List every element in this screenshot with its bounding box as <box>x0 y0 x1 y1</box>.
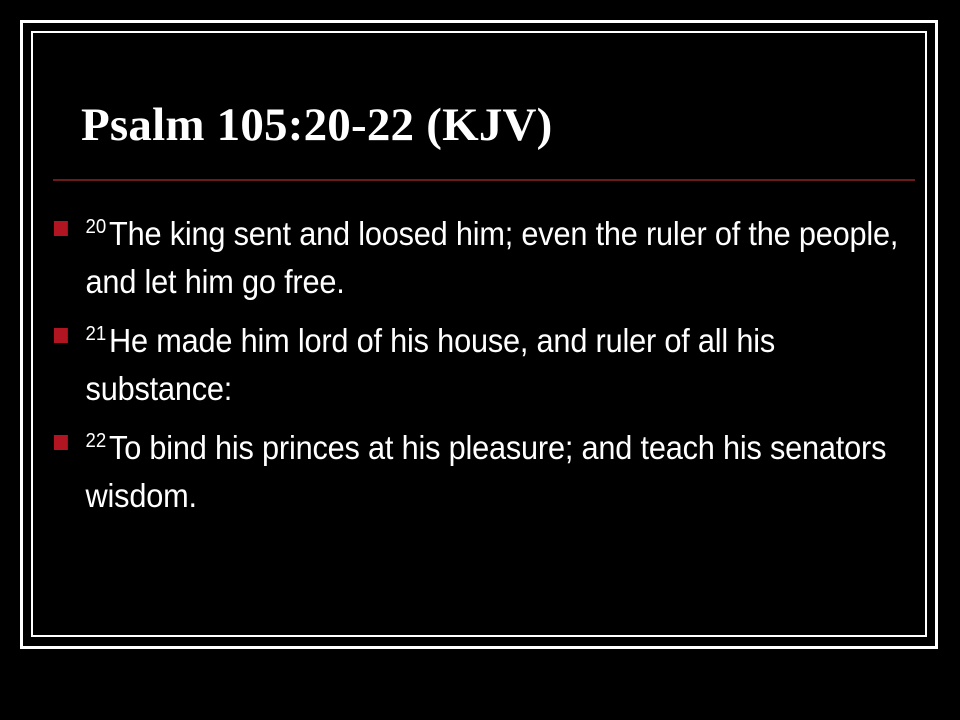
verse-number: 21 <box>86 323 109 345</box>
verse-text: To bind his princes at his pleasure; and… <box>86 429 887 514</box>
slide-title: Psalm 105:20-22 (KJV) <box>53 96 915 154</box>
scripture-bullet-list: 20The king sent and loosed him; even the… <box>53 203 925 524</box>
verse-number: 20 <box>86 216 109 238</box>
title-block: Psalm 105:20-22 (KJV) <box>53 96 915 154</box>
square-bullet-icon <box>54 328 68 343</box>
bullet-item-verse-21: 21He made him lord of his house, and rul… <box>53 310 925 413</box>
verse-number: 22 <box>86 430 109 452</box>
title-divider-rule <box>53 179 915 181</box>
square-bullet-icon <box>54 435 68 450</box>
bullet-item-verse-20: 20The king sent and loosed him; even the… <box>53 203 925 306</box>
bullet-item-verse-22: 22To bind his princes at his pleasure; a… <box>53 417 925 520</box>
presentation-slide: Psalm 105:20-22 (KJV) 20The king sent an… <box>0 0 960 720</box>
square-bullet-icon <box>54 221 68 236</box>
verse-text: He made him lord of his house, and ruler… <box>86 322 776 407</box>
verse-text: The king sent and loosed him; even the r… <box>86 215 899 300</box>
